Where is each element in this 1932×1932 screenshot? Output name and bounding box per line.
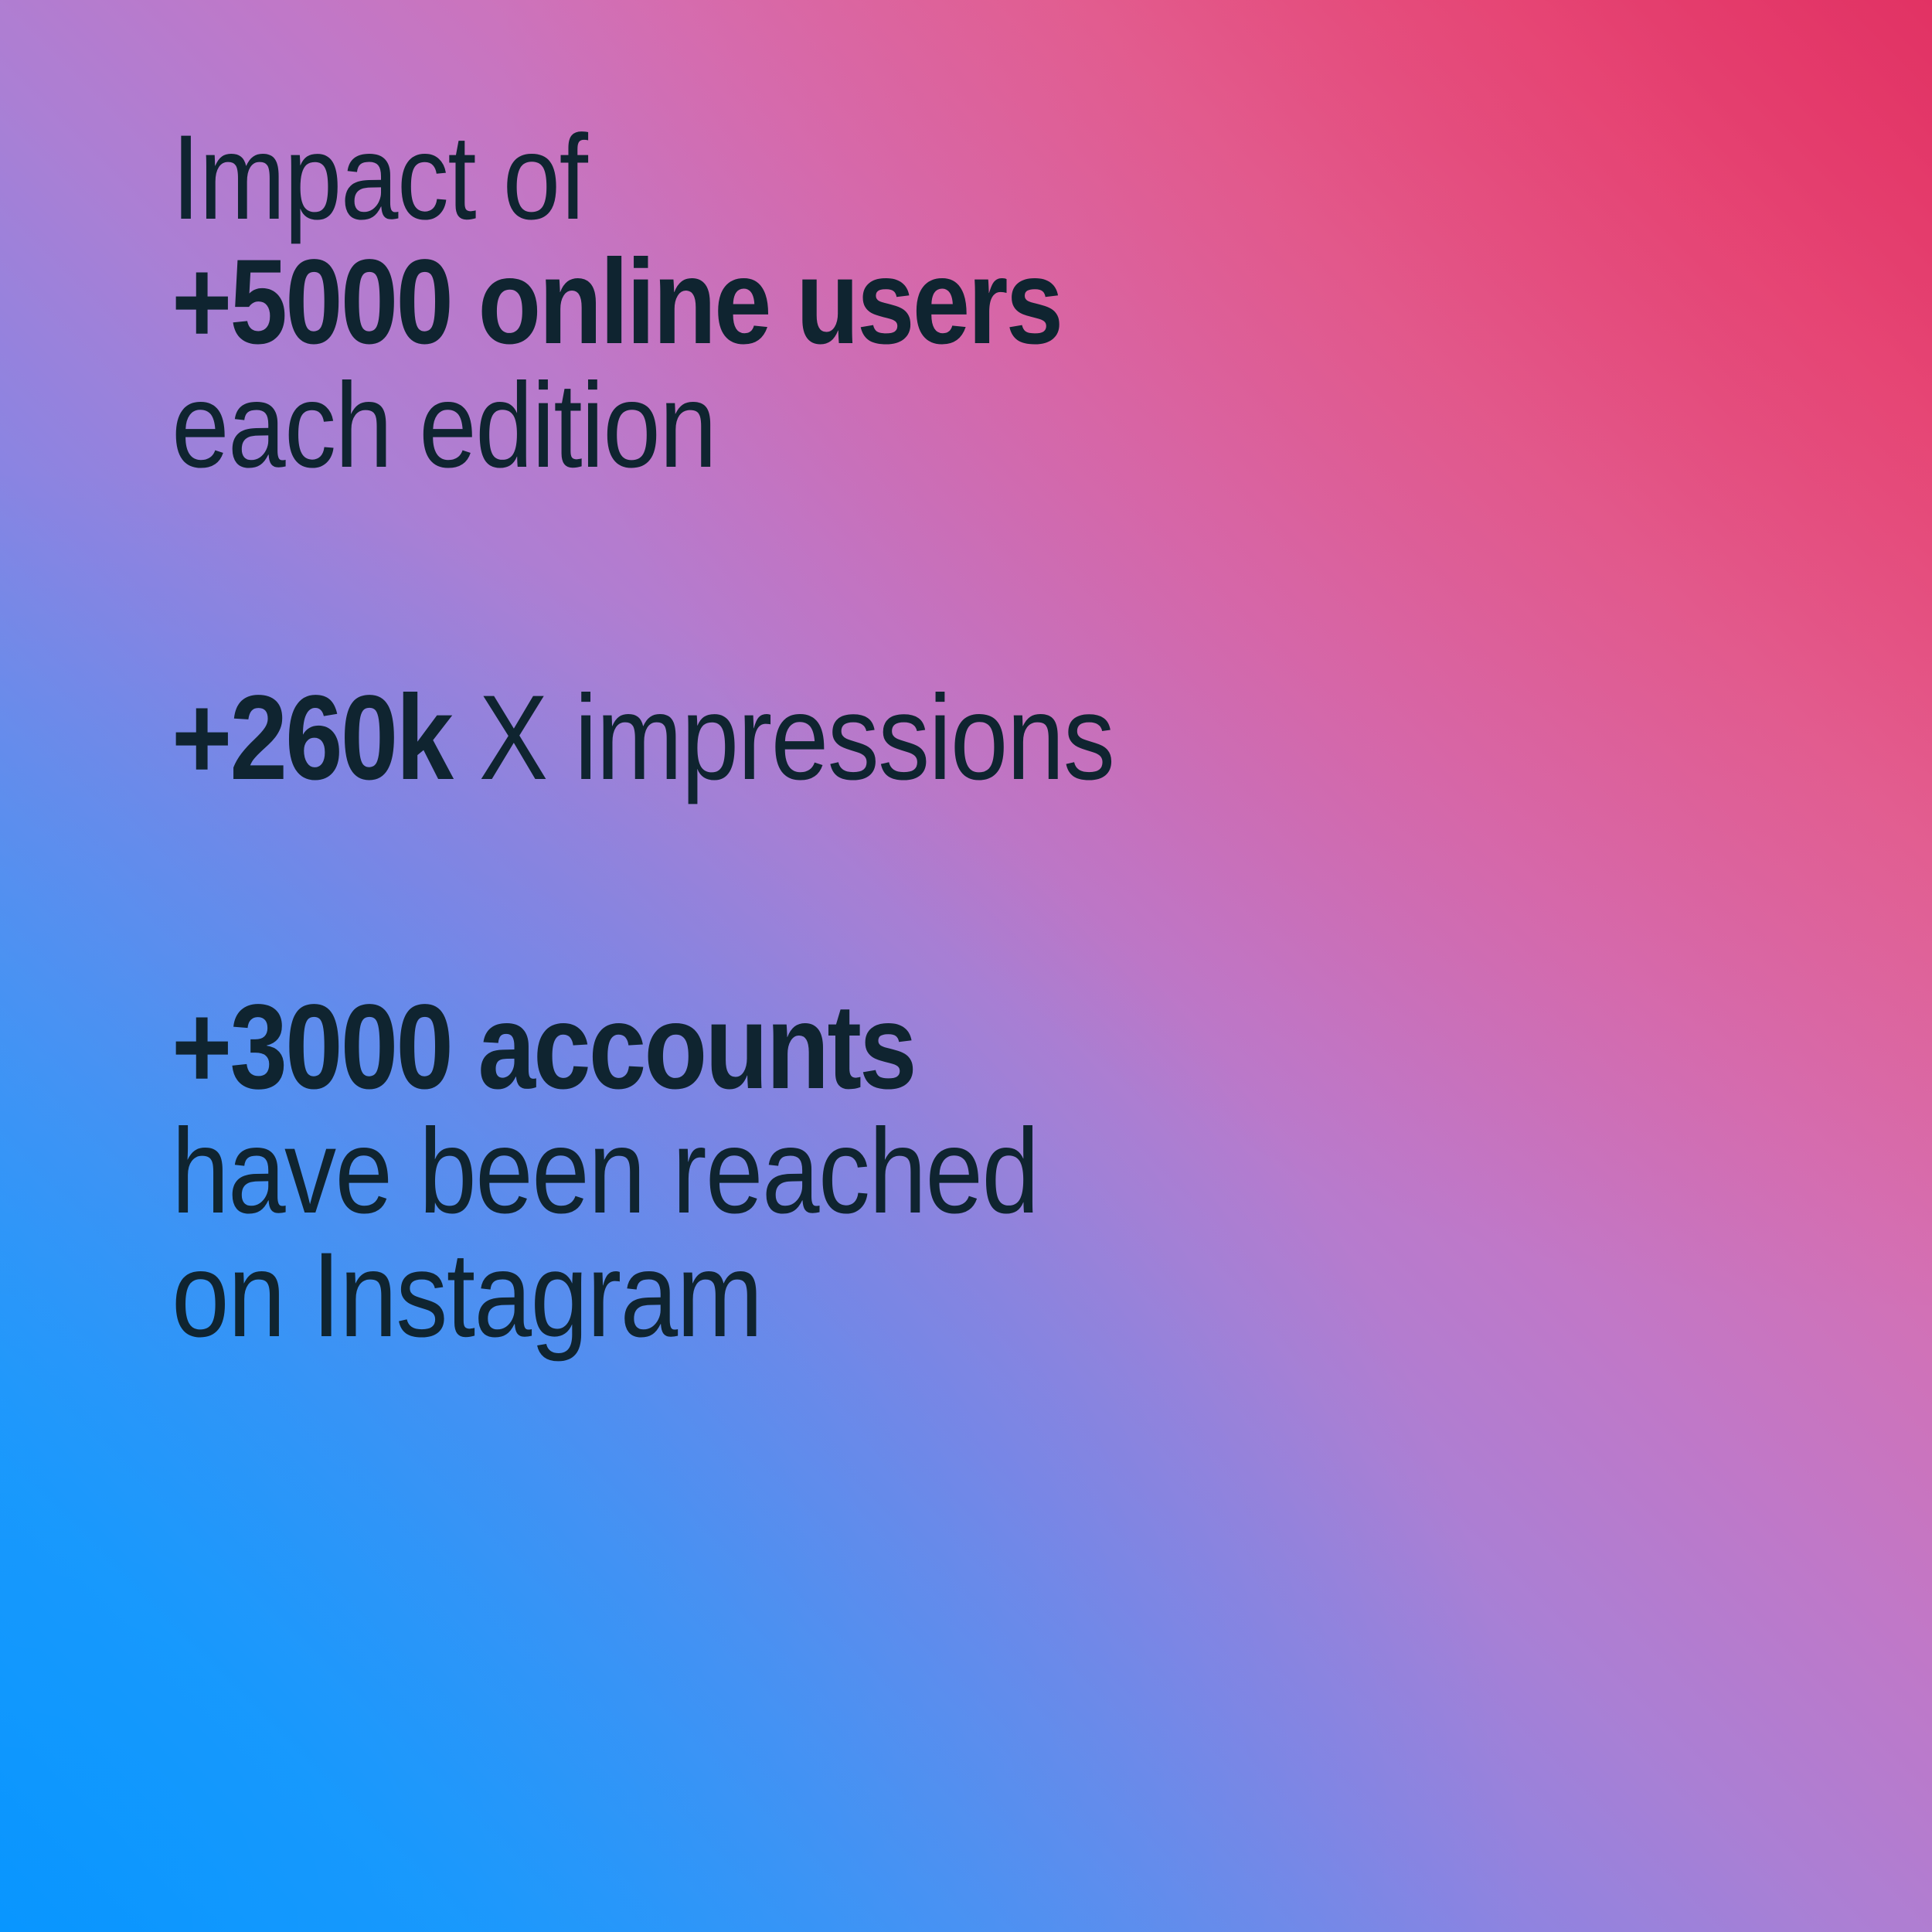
- stat-graphic-canvas: Impact of +5000 online users each editio…: [0, 0, 1932, 1932]
- accounts-platform-line: on Instagram: [172, 1233, 1038, 1358]
- online-users-value-line: +5000 online users: [172, 240, 1061, 365]
- each-edition-line: each edition: [172, 364, 1061, 488]
- stat-block-online-users: Impact of +5000 online users each editio…: [172, 116, 1206, 488]
- accounts-value-line: +3000 accounts: [172, 985, 1038, 1110]
- stat-block-x-impressions: +260k X impressions: [172, 676, 1267, 801]
- impressions-value: +260k: [172, 671, 451, 805]
- stat-block-instagram-accounts: +3000 accounts have been reached on Inst…: [172, 985, 1179, 1358]
- impressions-line: +260k X impressions: [172, 676, 1114, 801]
- accounts-reached-line: have been reached: [172, 1110, 1038, 1234]
- text-layer: Impact of +5000 online users each editio…: [0, 0, 1932, 1932]
- impact-heading-line: Impact of: [172, 116, 1061, 240]
- impressions-label: X impressions: [451, 671, 1114, 805]
